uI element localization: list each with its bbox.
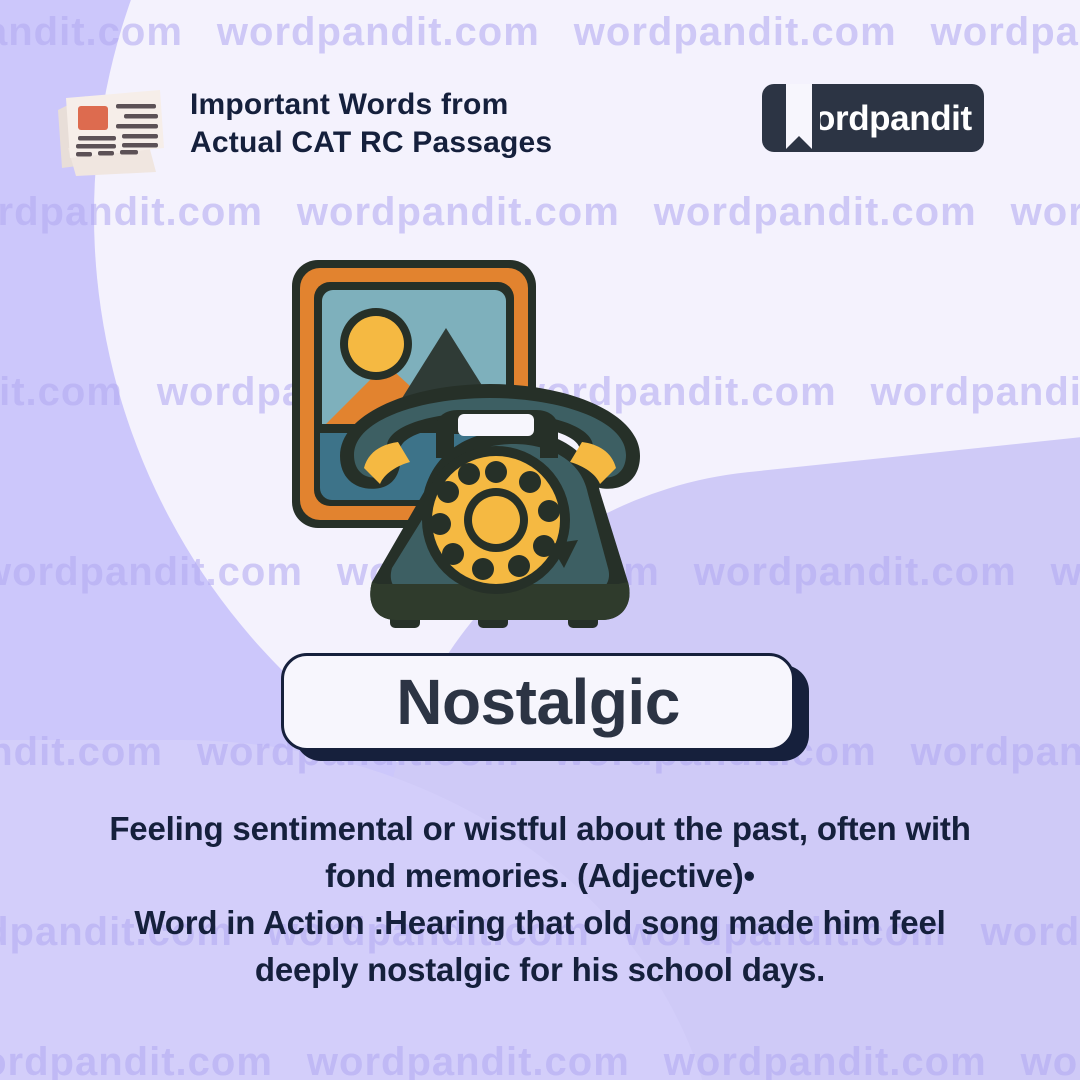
poster-canvas: wordpandit.comwordpandit.comwordpandit.c… (0, 0, 1080, 1080)
definition-line-3: Word in Action :Hearing that old song ma… (28, 900, 1052, 947)
definition-line-4: deeply nostalgic for his school days. (28, 947, 1052, 994)
header: Important Words from Actual CAT RC Passa… (52, 72, 552, 176)
main-illustration (278, 252, 708, 652)
bookmark-w-icon (778, 84, 820, 152)
definition-line-2: fond memories. (Adjective)• (28, 853, 1052, 900)
logo-text: ordpandit (814, 101, 972, 136)
word-badge: Nostalgic (281, 653, 809, 761)
wordpandit-logo[interactable]: ordpandit (762, 84, 984, 152)
word-badge-surface: Nostalgic (281, 653, 795, 751)
definition-block: Feeling sentimental or wistful about the… (0, 806, 1080, 993)
definition-line-1: Feeling sentimental or wistful about the… (28, 806, 1052, 853)
header-title: Important Words from Actual CAT RC Passa… (190, 86, 552, 163)
newspaper-icon (52, 72, 172, 176)
word-term: Nostalgic (396, 670, 680, 734)
